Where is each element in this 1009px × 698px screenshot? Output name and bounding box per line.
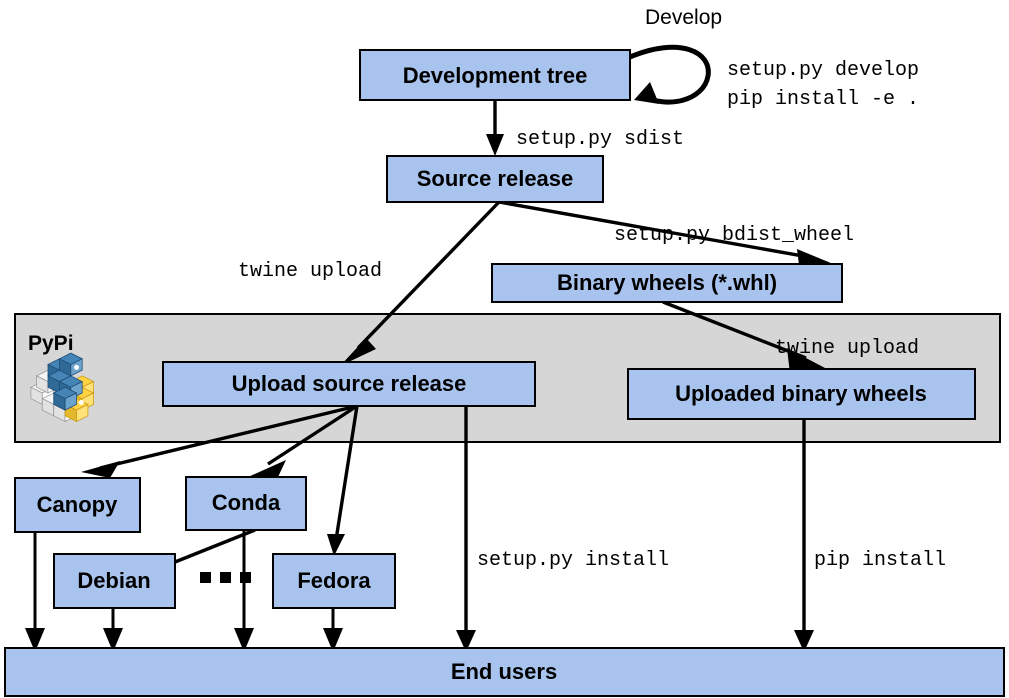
node-upload-source-release[interactable]: Upload source release <box>163 362 535 406</box>
node-end-users[interactable]: End users <box>5 648 1004 696</box>
edge-upload-to-canopy-arrowhead <box>81 461 120 478</box>
binary-wheels-label: Binary wheels (*.whl) <box>557 270 777 295</box>
node-development-tree[interactable]: Development tree <box>360 50 630 100</box>
ellipsis-separator <box>200 572 251 583</box>
debian-label: Debian <box>77 568 150 593</box>
source-release-label: Source release <box>417 166 574 191</box>
upload-source-release-label: Upload source release <box>232 371 467 396</box>
edge-upload-to-conda-arrowhead <box>248 460 286 477</box>
edge-upload-to-fedora-arrowhead <box>327 534 345 556</box>
canopy-label: Canopy <box>37 492 118 517</box>
uploaded-binary-wheels-label: Uploaded binary wheels <box>675 381 927 406</box>
edge-develop-selfloop-arrowhead <box>634 82 659 104</box>
diagram-canvas: Development tree Source release Binary w… <box>0 0 1009 698</box>
edge-label-pip-install-editable: pip install -e . <box>727 88 919 111</box>
ellipsis-dot-3 <box>240 572 251 583</box>
node-conda[interactable]: Conda <box>186 477 306 530</box>
edge-label-twine-upload-source: twine upload <box>238 260 382 283</box>
packaging-flow-diagram: Development tree Source release Binary w… <box>0 0 1009 698</box>
node-canopy[interactable]: Canopy <box>15 478 140 532</box>
edge-label-setup-py-sdist: setup.py sdist <box>516 128 684 151</box>
node-binary-wheels[interactable]: Binary wheels (*.whl) <box>492 264 842 302</box>
conda-label: Conda <box>212 490 281 515</box>
edge-label-setup-py-develop: setup.py develop <box>727 59 919 82</box>
edge-sdist-arrowhead <box>486 134 504 156</box>
node-source-release[interactable]: Source release <box>387 156 603 202</box>
development-tree-label: Development tree <box>403 63 588 88</box>
ellipsis-dot-1 <box>200 572 211 583</box>
edge-label-twine-upload-wheels: twine upload <box>775 337 919 360</box>
edge-label-setup-py-install: setup.py install <box>477 549 669 572</box>
ellipsis-dot-2 <box>220 572 231 583</box>
fedora-label: Fedora <box>297 568 371 593</box>
end-users-label: End users <box>451 659 557 684</box>
node-uploaded-binary-wheels[interactable]: Uploaded binary wheels <box>628 369 975 419</box>
edge-label-pip-install: pip install <box>814 549 946 572</box>
node-fedora[interactable]: Fedora <box>273 554 395 608</box>
edge-label-develop: Develop <box>645 6 722 29</box>
pypi-group-label: PyPi <box>28 332 74 355</box>
node-debian[interactable]: Debian <box>54 554 175 608</box>
edge-label-setup-py-bdist-wheel: setup.py bdist_wheel <box>614 224 854 247</box>
